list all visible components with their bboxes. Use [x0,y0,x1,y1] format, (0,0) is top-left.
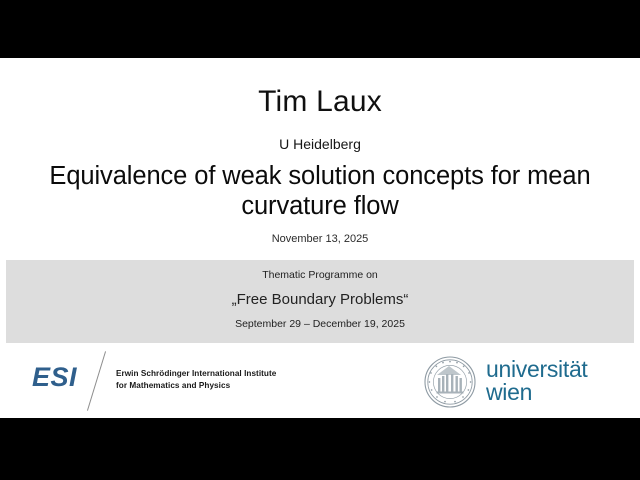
esi-slash-divider-icon [87,351,106,411]
esi-institute-name-line-2: for Mathematics and Physics [116,380,296,392]
presentation-slide: Tim Laux U Heidelberg Equivalence of wea… [0,58,640,418]
logo-row: ESI Erwin Schrödinger International Inst… [0,348,640,418]
esi-institute-name-line-1: Erwin Schrödinger International Institut… [116,368,296,380]
letterbox-bar-top [0,0,640,58]
programme-banner-line-1: Thematic Programme on [6,269,634,281]
esi-logo: ESI Erwin Schrödinger International Inst… [32,354,292,412]
esi-institute-name: Erwin Schrödinger International Institut… [116,368,296,393]
programme-banner: Thematic Programme on „Free Boundary Pro… [6,260,634,343]
university-vienna-wordmark-line-2: wien [486,381,588,404]
video-frame: Tim Laux U Heidelberg Equivalence of wea… [0,0,640,480]
university-seal-icon [424,356,476,408]
university-vienna-logo: universität wien [424,350,624,416]
speaker-affiliation: U Heidelberg [0,136,640,152]
university-vienna-wordmark: universität wien [486,358,588,404]
programme-banner-title: „Free Boundary Problems“ [6,291,634,308]
esi-wordmark-icon: ESI [32,362,77,393]
university-vienna-wordmark-line-1: universität [486,358,588,381]
talk-date: November 13, 2025 [0,233,640,245]
programme-banner-dates: September 29 – December 19, 2025 [6,318,634,330]
talk-title: Equivalence of weak solution concepts fo… [8,162,632,221]
letterbox-bar-bottom [0,418,640,480]
speaker-name: Tim Laux [0,86,640,118]
